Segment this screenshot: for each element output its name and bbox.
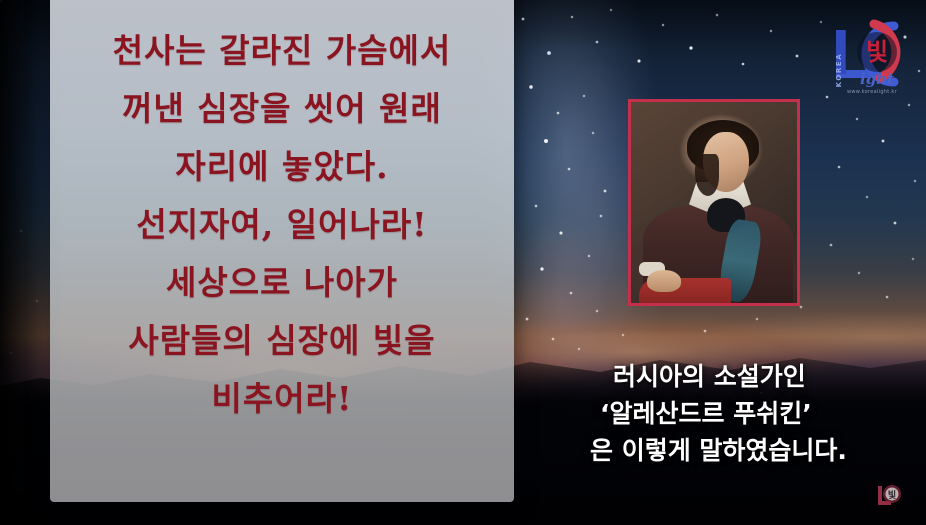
quote-panel: 천사는 갈라진 가슴에서 꺼낸 심장을 씻어 원래 자리에 놓았다. 선지자여,… <box>50 0 514 502</box>
caption-line: ‘알레산드르 푸쉬킨’ <box>590 395 926 432</box>
poem-line: 사람들의 심장에 빛을 <box>128 312 435 370</box>
alexander-pushkin-portrait <box>631 102 797 303</box>
caption-line: 러시아의 소설가인 <box>590 358 926 395</box>
svg-text:ight: ight <box>860 70 894 88</box>
poem-line: 세상으로 나아가 <box>166 254 398 312</box>
video-frame: 천사는 갈라진 가슴에서 꺼낸 심장을 씻어 원래 자리에 놓았다. 선지자여,… <box>0 0 926 525</box>
korea-light-logo-icon: 빛 KOREA ight <box>820 12 918 96</box>
poem-line: 선지자여, 일어나라! <box>136 196 427 254</box>
korea-light-watermark-icon: 빛 <box>872 480 906 512</box>
star-field <box>0 0 1 1</box>
caption-line: 은 이렇게 말하였습니다. <box>590 432 926 469</box>
channel-logo[interactable]: 빛 KOREA ight www.korealight.kr <box>820 12 918 96</box>
svg-text:빛: 빛 <box>866 38 888 66</box>
logo-url: www.korealight.kr <box>826 89 918 95</box>
portrait-hand <box>647 270 681 292</box>
corner-watermark: 빛 <box>872 480 906 512</box>
caption-block: 러시아의 소설가인 ‘알레산드르 푸쉬킨’ 은 이렇게 말하였습니다. <box>590 358 926 469</box>
portrait-frame <box>628 99 800 306</box>
poem-line: 꺼낸 심장을 씻어 원래 <box>122 80 442 138</box>
svg-text:빛: 빛 <box>888 489 896 501</box>
poem-line: 천사는 갈라진 가슴에서 <box>113 22 452 80</box>
svg-text:KOREA: KOREA <box>835 53 843 88</box>
poem-line: 자리에 놓았다. <box>175 138 388 196</box>
portrait-beard <box>695 154 719 196</box>
poem-line: 비추어라! <box>212 370 353 428</box>
